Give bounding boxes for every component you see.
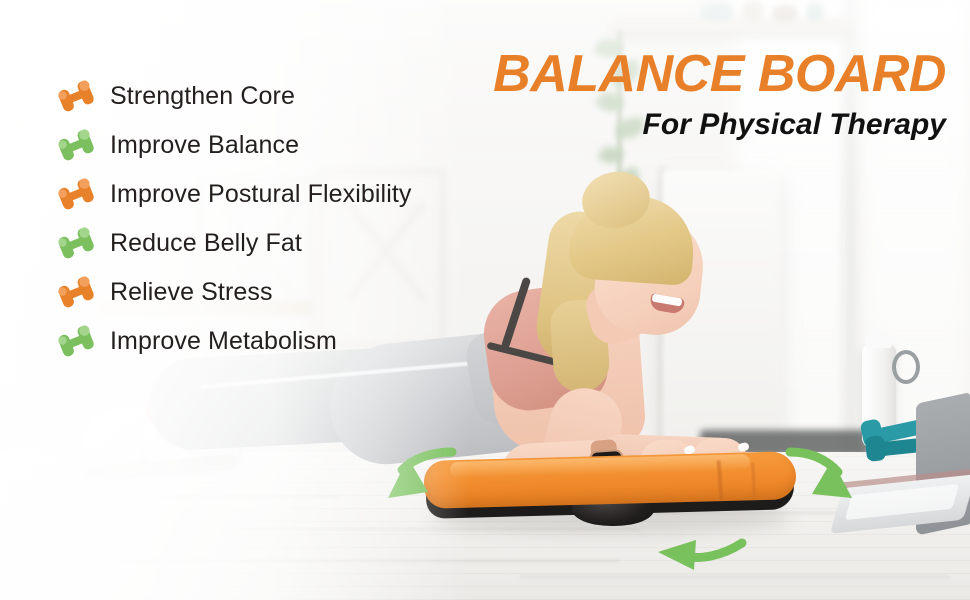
rotation-arrow-left (388, 452, 452, 498)
list-item-label: Improve Metabolism (98, 327, 337, 356)
list-item: Improve Postural Flexibility (52, 170, 482, 219)
list-item-label: Relieve Stress (98, 278, 273, 307)
dumbbell-icon (52, 274, 98, 312)
list-item-label: Strengthen Core (98, 82, 295, 111)
dumbbell-icon (52, 225, 98, 263)
page-subtitle: For Physical Therapy (430, 108, 946, 141)
dumbbell-icon (52, 323, 98, 361)
list-item: Strengthen Core (52, 72, 482, 121)
dumbbell-icon (52, 127, 98, 165)
dumbbell-icon (52, 176, 98, 214)
list-item: Relieve Stress (52, 268, 482, 317)
list-item-label: Improve Postural Flexibility (98, 180, 412, 209)
list-item: Reduce Belly Fat (52, 219, 482, 268)
list-item-label: Improve Balance (98, 131, 299, 160)
dumbbell-icon (52, 78, 98, 116)
list-item-label: Reduce Belly Fat (98, 229, 302, 258)
page-title: BALANCE BOARD (430, 48, 946, 100)
feature-list: Strengthen Core Improve Balance (52, 72, 482, 366)
rotation-arrow-bottom (658, 540, 742, 570)
list-item: Improve Balance (52, 121, 482, 170)
list-item: Improve Metabolism (52, 317, 482, 366)
rotation-arrow-right (790, 452, 852, 498)
product-banner: BALANCE BOARD For Physical Therapy Stren… (0, 0, 970, 600)
